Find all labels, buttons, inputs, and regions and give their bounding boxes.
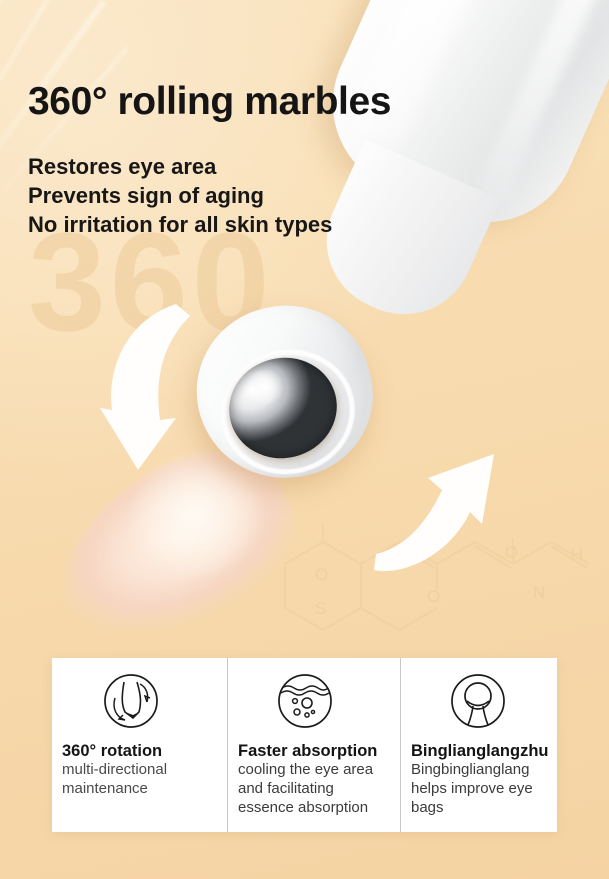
roller-ball-icon xyxy=(411,672,547,732)
page-title: 360° rolling marbles xyxy=(28,82,391,121)
svg-text:H: H xyxy=(571,545,583,564)
water-absorption-icon xyxy=(238,672,390,732)
feature-desc-cooling: Bingbinglianglang helps improve eye bags xyxy=(411,761,547,817)
svg-text:O: O xyxy=(315,565,328,584)
feature-title-cooling: Binglianglangzhu xyxy=(411,742,547,760)
feature-column-rotation: 360° rotation multi-directional maintena… xyxy=(52,658,227,832)
svg-text:S: S xyxy=(315,599,326,618)
feature-title-absorption: Faster absorption xyxy=(238,742,390,760)
roller-rotation-icon xyxy=(62,672,217,732)
svg-text:N: N xyxy=(533,583,545,602)
feature-title-rotation: 360° rotation xyxy=(62,742,217,760)
svg-text:O: O xyxy=(505,543,518,562)
rotation-arrow-right-icon xyxy=(370,438,502,583)
rotation-arrow-left-icon xyxy=(98,298,228,483)
feature-column-absorption: Faster absorption cooling the eye area a… xyxy=(227,658,400,832)
svg-text:O: O xyxy=(427,587,440,606)
feature-desc-absorption: cooling the eye area and facilitating es… xyxy=(238,761,390,817)
product-infographic: 360 O S O O N H xyxy=(0,0,609,879)
benefit-list: Restores eye area Prevents sign of aging… xyxy=(28,152,332,239)
feature-desc-rotation: multi-directional maintenance xyxy=(62,761,217,798)
benefit-item-2: Prevents sign of aging xyxy=(28,181,332,210)
feature-column-cooling: Binglianglangzhu Bingbinglianglang helps… xyxy=(400,658,557,832)
benefit-item-3: No irritation for all skin types xyxy=(28,210,332,239)
benefit-item-1: Restores eye area xyxy=(28,152,332,181)
feature-panel: 360° rotation multi-directional maintena… xyxy=(52,658,557,832)
